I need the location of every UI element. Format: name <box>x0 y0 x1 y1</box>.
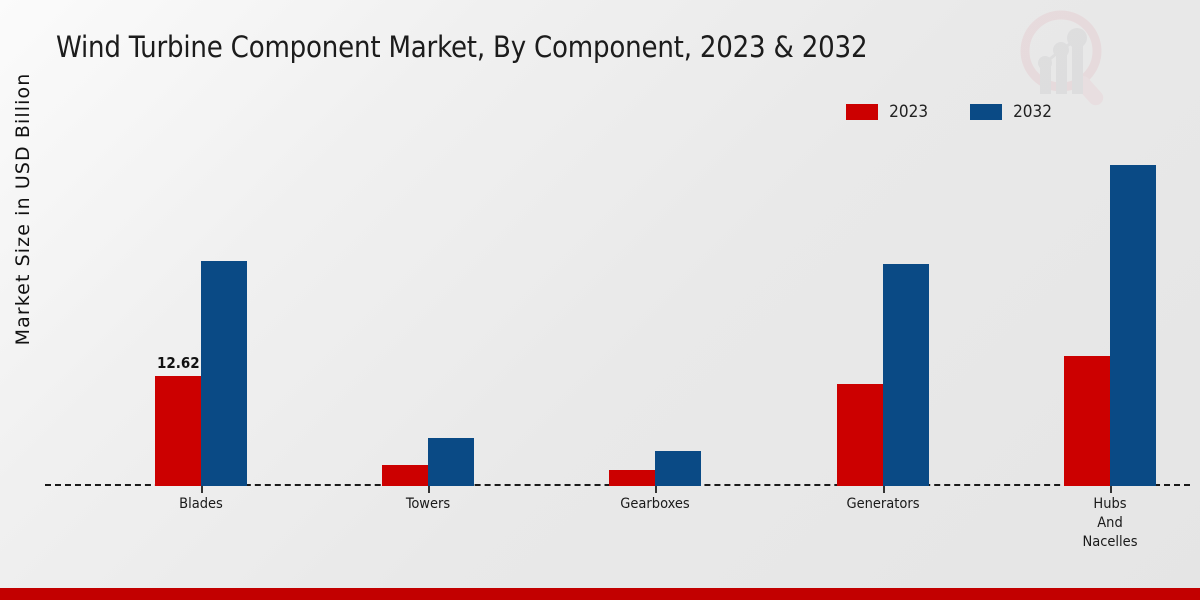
bar-2032-generators[interactable] <box>883 264 929 486</box>
bar-group: Hubs And Nacelles <box>1064 150 1156 486</box>
legend-item-2023[interactable]: 2023 <box>846 102 928 122</box>
bar-pair <box>382 150 474 486</box>
x-axis-tick <box>1110 486 1112 493</box>
legend-label: 2032 <box>1013 102 1052 122</box>
x-axis-label-blades: Blades <box>121 495 281 514</box>
watermark-logo <box>1014 6 1118 110</box>
legend-item-2032[interactable]: 2032 <box>970 102 1052 122</box>
bar-2032-blades[interactable] <box>201 261 247 486</box>
x-axis-tick <box>883 486 885 493</box>
bar-pair <box>1064 150 1156 486</box>
bar-group: Towers <box>382 150 474 486</box>
bar-2032-gearboxes[interactable] <box>655 451 701 486</box>
bar-pair <box>837 150 929 486</box>
chart-title: Wind Turbine Component Market, By Compon… <box>56 30 867 64</box>
x-axis-label-hubs: Hubs And Nacelles <box>1030 495 1190 552</box>
bar-pair <box>609 150 701 486</box>
legend-swatch-icon <box>970 104 1002 120</box>
plot-area: 12.62BladesTowersGearboxesGeneratorsHubs… <box>45 150 1190 486</box>
bar-group: Generators <box>837 150 929 486</box>
legend-label: 2023 <box>889 102 928 122</box>
bar-2032-hubs-and-nacelles[interactable] <box>1110 165 1156 486</box>
x-axis-label-towers: Towers <box>348 495 508 514</box>
chart-figure: Wind Turbine Component Market, By Compon… <box>0 0 1200 600</box>
x-axis-tick <box>201 486 203 493</box>
bar-pair <box>155 150 247 486</box>
bar-2023-towers[interactable] <box>382 465 428 486</box>
bar-2023-blades[interactable] <box>155 376 201 486</box>
x-axis-label-generators: Generators <box>803 495 963 514</box>
x-axis-label-gearboxes: Gearboxes <box>575 495 735 514</box>
x-axis-tick <box>655 486 657 493</box>
x-axis-tick <box>428 486 430 493</box>
bar-2023-gearboxes[interactable] <box>609 470 655 486</box>
bar-2023-generators[interactable] <box>837 384 883 486</box>
footer-accent-bar <box>0 588 1200 600</box>
y-axis-title: Market Size in USD Billion <box>12 39 34 379</box>
legend-swatch-icon <box>846 104 878 120</box>
chart-legend: 2023 2032 <box>846 102 1052 122</box>
bar-2032-towers[interactable] <box>428 438 474 486</box>
bar-group: Gearboxes <box>609 150 701 486</box>
bar-2023-hubs-and-nacelles[interactable] <box>1064 356 1110 486</box>
bar-group: 12.62Blades <box>155 150 247 486</box>
